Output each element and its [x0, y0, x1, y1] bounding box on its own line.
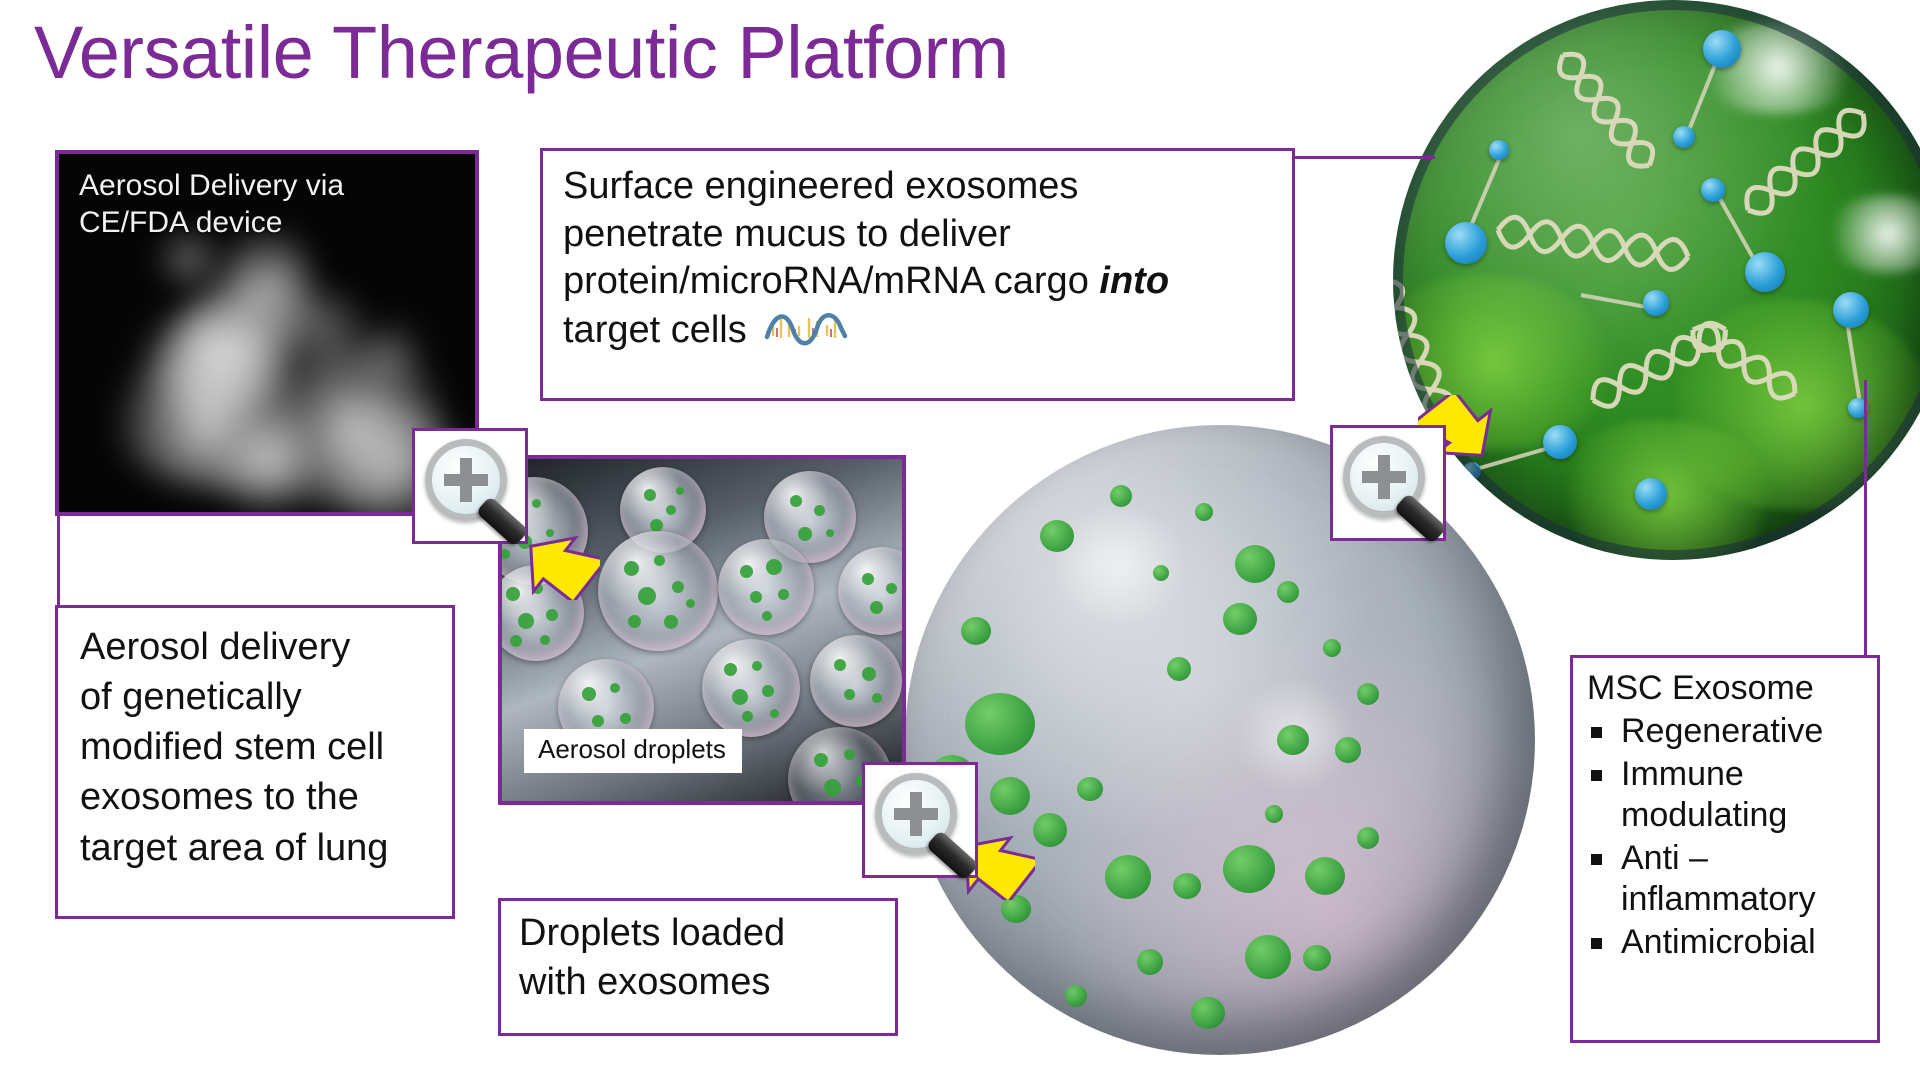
callout-line-3-text: protein/microRNA/mRNA cargo — [563, 260, 1099, 302]
sphere-rim — [1393, 0, 1920, 560]
msc-exosome-header: MSC Exosome — [1587, 668, 1869, 709]
msc-bullet-1-line-2: modulating — [1621, 795, 1869, 836]
text-box-droplets-loaded: Droplets loaded with exosomes — [498, 898, 898, 1036]
callout-line-4: target cells — [563, 306, 1276, 361]
callout-line-2: penetrate mucus to deliver — [563, 211, 1276, 259]
aerosol-delivery-line-1: Aerosol delivery — [80, 622, 442, 672]
list-item: Regenerative — [1587, 711, 1869, 752]
slide-canvas: Versatile Therapeutic Platform — [0, 0, 1920, 1080]
aerosol-delivery-line-5: target area of lung — [80, 823, 442, 873]
magnifier-zoom-aerosol-to-droplets[interactable] — [412, 428, 528, 544]
droplets-loaded-line-1: Droplets loaded — [519, 909, 885, 958]
connector-line-left — [57, 516, 60, 608]
callout-line-1: Surface engineered exosomes — [563, 163, 1276, 211]
magnifier-zoom-exosome-to-cargo[interactable] — [1330, 425, 1446, 541]
aerosol-caption-line-2: CE/FDA device — [79, 205, 344, 242]
aerosol-device-caption: Aerosol Delivery via CE/FDA device — [79, 168, 344, 241]
droplets-loaded-line-2: with exosomes — [519, 958, 885, 1007]
plus-icon-vertical — [1378, 455, 1390, 499]
msc-bullet-2-line-2: inflammatory — [1621, 879, 1869, 920]
connector-line-top — [1295, 156, 1435, 159]
msc-bullet-2-line-1: Anti – — [1621, 839, 1708, 877]
list-item: Antimicrobial — [1587, 922, 1869, 963]
aerosol-caption-line-1: Aerosol Delivery via — [79, 168, 344, 205]
plus-icon-vertical — [460, 458, 472, 502]
callout-line-3-emphasis: into — [1099, 260, 1169, 302]
msc-bullet-3-line-1: Antimicrobial — [1621, 923, 1816, 961]
magnifier-zoom-droplets-to-exosome[interactable] — [862, 762, 978, 878]
msc-exosome-bullet-list: Regenerative Immune modulating Anti – in… — [1587, 711, 1869, 963]
magnifier-handle-icon — [476, 496, 529, 547]
aerosol-delivery-line-3: modified stem cell — [80, 722, 442, 772]
msc-bullet-0-line-1: Regenerative — [1621, 712, 1823, 750]
dna-wave-icon — [761, 306, 853, 361]
list-item: Anti – inflammatory — [1587, 838, 1869, 921]
yellow-arrow-marker — [520, 528, 600, 600]
aerosol-delivery-line-2: of genetically — [80, 672, 442, 722]
list-item: Immune modulating — [1587, 754, 1869, 837]
aerosol-delivery-line-4: exosomes to the — [80, 772, 442, 822]
engineered-exosome-sphere-image — [1393, 0, 1920, 560]
text-box-aerosol-delivery: Aerosol delivery of genetically modified… — [55, 605, 455, 919]
magnifier-handle-icon — [1394, 493, 1447, 544]
text-box-msc-exosome: MSC Exosome Regenerative Immune modulati… — [1570, 655, 1880, 1043]
page-title: Versatile Therapeutic Platform — [34, 14, 1009, 92]
callout-surface-engineered-exosomes: Surface engineered exosomes penetrate mu… — [540, 148, 1295, 401]
plus-icon-vertical — [910, 792, 922, 836]
magnifier-handle-icon — [926, 830, 979, 881]
callout-line-3: protein/microRNA/mRNA cargo into — [563, 258, 1276, 306]
connector-line-right — [1864, 380, 1867, 660]
msc-bullet-1-line-1: Immune — [1621, 755, 1744, 793]
callout-line-4-text: target cells — [563, 309, 747, 351]
aerosol-droplets-photo: Aerosol droplets — [498, 455, 906, 805]
aerosol-droplets-label: Aerosol droplets — [524, 729, 742, 773]
